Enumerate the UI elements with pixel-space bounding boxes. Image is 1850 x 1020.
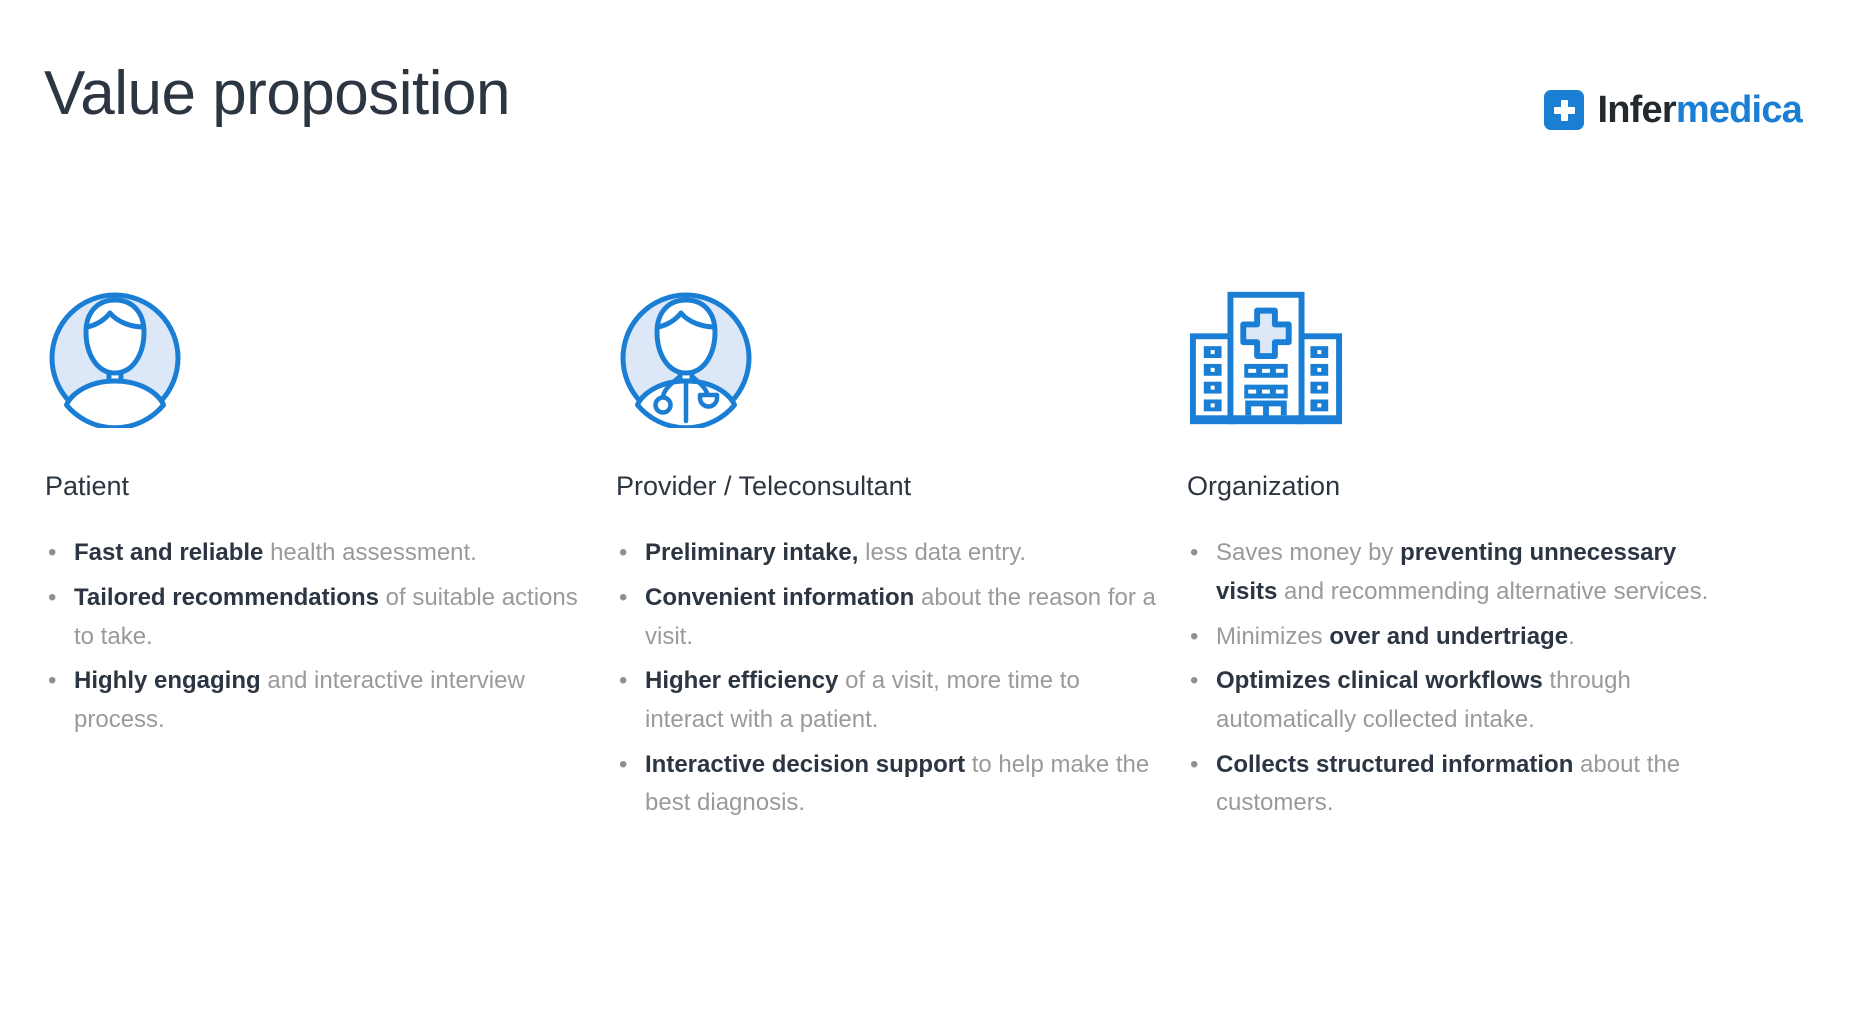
hospital-building-icon [1187,288,1345,428]
list-item: Minimizes over and undertriage. [1187,618,1727,657]
column-provider: Provider / Teleconsultant Preliminary in… [616,288,1156,829]
list-item: Saves money by preventing unnecessary vi… [1187,534,1727,611]
list-item: Interactive decision support to help mak… [616,746,1156,823]
doctor-stethoscope-icon [616,288,756,428]
bullet-list-organization: Saves money by preventing unnecessary vi… [1187,534,1727,822]
value-proposition-columns: Patient Fast and reliable health assessm… [0,0,1850,1020]
column-heading: Organization [1187,470,1727,502]
bullet-list-patient: Fast and reliable health assessment. Tai… [45,534,585,739]
column-heading: Provider / Teleconsultant [616,470,1156,502]
list-item: Fast and reliable health assessment. [45,534,585,573]
column-heading: Patient [45,470,585,502]
bullet-list-provider: Preliminary intake, less data entry. Con… [616,534,1156,822]
list-item: Collects structured information about th… [1187,746,1727,823]
column-organization: Organization Saves money by preventing u… [1187,288,1727,829]
list-item: Tailored recommendations of suitable act… [45,579,585,656]
list-item: Highly engaging and interactive intervie… [45,662,585,739]
patient-avatar-icon [45,288,185,428]
list-item: Optimizes clinical workflows through aut… [1187,662,1727,739]
column-patient: Patient Fast and reliable health assessm… [45,288,585,746]
list-item: Preliminary intake, less data entry. [616,534,1156,573]
list-item: Higher efficiency of a visit, more time … [616,662,1156,739]
list-item: Convenient information about the reason … [616,579,1156,656]
